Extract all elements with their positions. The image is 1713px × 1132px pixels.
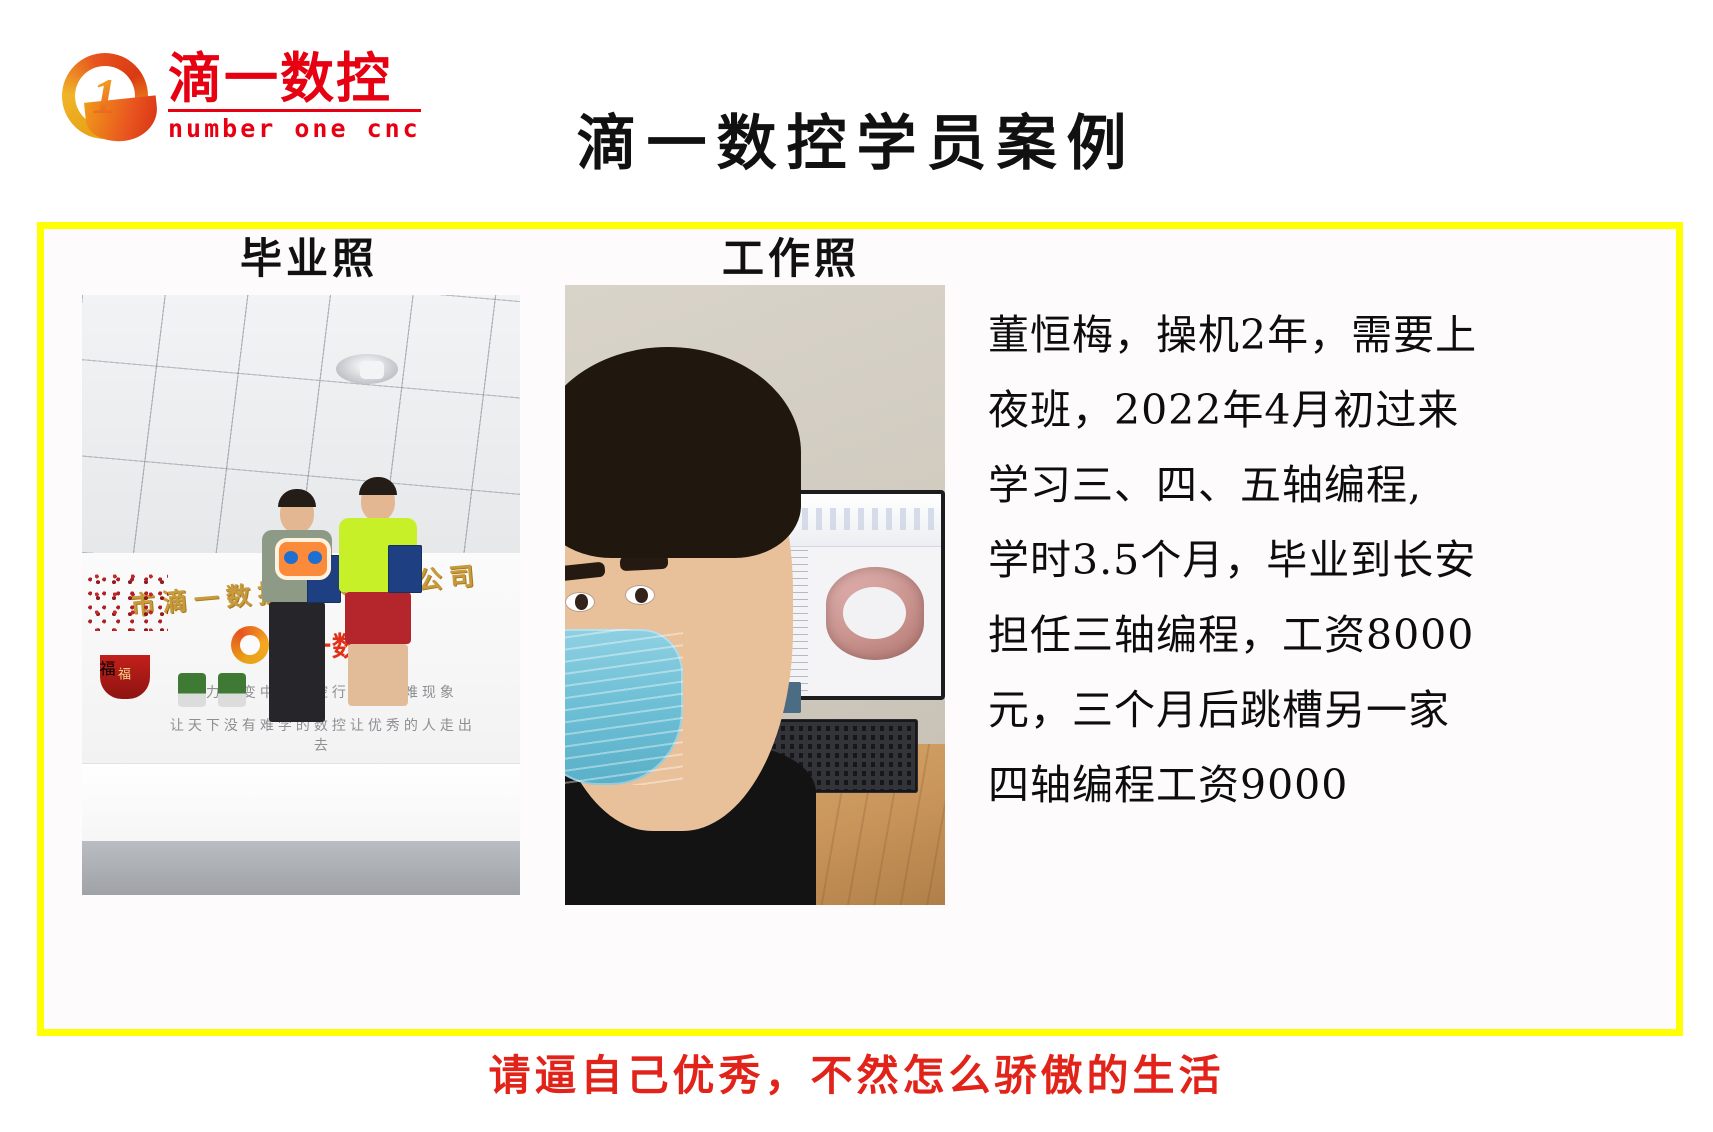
graduate-person-right — [332, 481, 424, 841]
bio-line: 董恒梅，操机2年，需要上 — [988, 298, 1548, 373]
bio-line: 元，三个月后跳槽另一家 — [988, 673, 1548, 748]
shins-shape — [348, 644, 408, 706]
graduation-photo-caption: 毕业照 — [240, 235, 378, 283]
eyebrow-left — [565, 562, 606, 582]
face-sticker-icon — [275, 538, 331, 580]
bio-line: 学时3.5个月，毕业到长安 — [988, 523, 1548, 598]
eye-left — [565, 592, 595, 612]
legs-shape — [269, 602, 325, 722]
footer-slogan: 请逼自己优秀，不然怎么骄傲的生活 — [0, 1050, 1713, 1102]
certificate-book — [388, 545, 422, 593]
bio-line: 四轴编程工资9000 — [988, 748, 1548, 823]
slide-root: 1 滴一数控 number one cnc 滴一数控学员案例 毕业照 工作照 市… — [0, 0, 1713, 1132]
flower-arrangement — [86, 571, 168, 631]
page-title: 滴一数控学员案例 — [0, 108, 1713, 180]
bio-line: 夜班，2022年4月初过来 — [988, 373, 1548, 448]
legs-shape — [345, 592, 411, 644]
bio-line: 担任三轴编程，工资8000 — [988, 598, 1548, 673]
potted-plant — [178, 673, 206, 707]
logo-chinese-name: 滴一数控 — [168, 51, 421, 107]
cad-part-model — [826, 567, 924, 660]
potted-plant — [218, 673, 246, 707]
bio-line: 学习三、四、五轴编程, — [988, 448, 1548, 523]
work-photo — [565, 285, 945, 905]
eye-right — [625, 585, 655, 605]
floor-region — [82, 841, 520, 895]
student-bio: 董恒梅，操机2年，需要上 夜班，2022年4月初过来 学习三、四、五轴编程, 学… — [988, 298, 1548, 823]
surgical-mask — [565, 629, 683, 785]
work-photo-caption: 工作照 — [722, 235, 860, 283]
red-vase: 福 — [100, 655, 150, 699]
graduation-photo: 市滴一数控技术有限公司 滴一数控 致力改变中国数控行业招工难现象 让天下没有难学… — [82, 295, 520, 895]
